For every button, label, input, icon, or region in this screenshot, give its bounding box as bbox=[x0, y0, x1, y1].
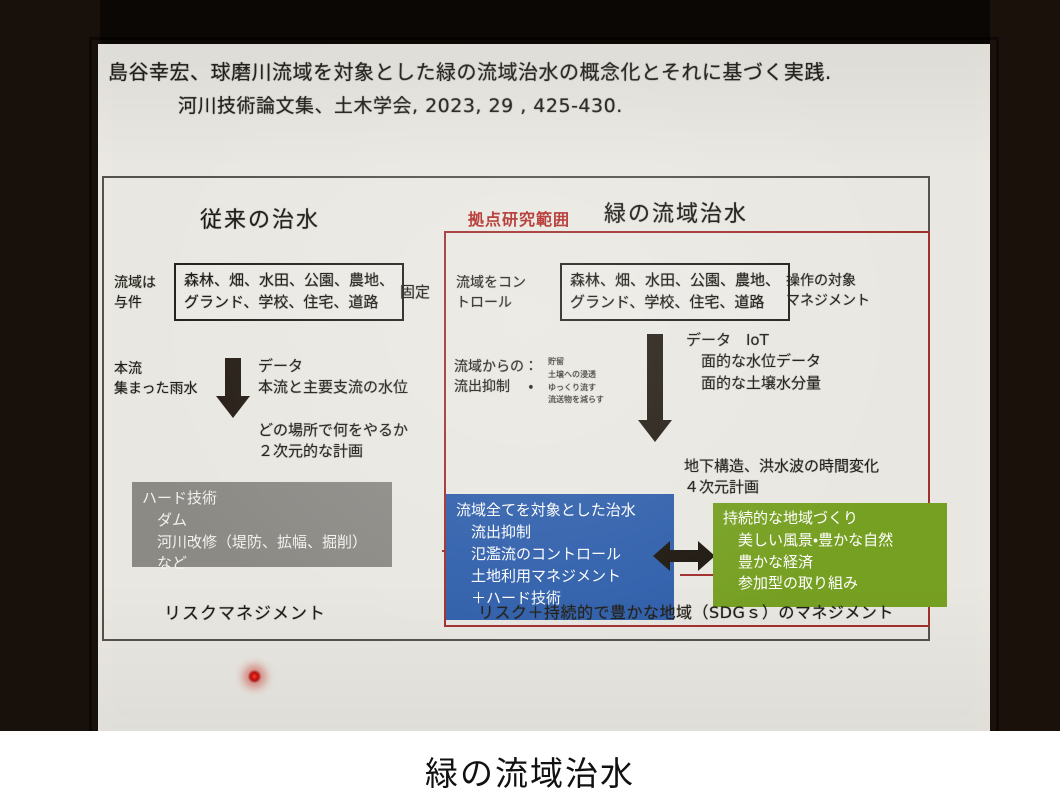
citation-line-1: 島谷幸宏、球磨川流域を対象とした緑の流域治水の概念化とそれに基づく実践. bbox=[108, 56, 832, 85]
hard-measures-box: ハード技術 ダム 河川改修（堤防、拡幅、掘削） など bbox=[132, 482, 392, 567]
diagram-frame: 従来の治水 流域は 与件 森林、畑、水田、公園、農地、 グランド、学校、住宅、道… bbox=[102, 176, 930, 641]
slide-surface: 島谷幸宏、球磨川流域を対象とした緑の流域治水の概念化とそれに基づく実践. 河川技… bbox=[98, 44, 990, 731]
room-wall-top bbox=[0, 0, 1060, 46]
bidirectional-arrow bbox=[653, 541, 715, 571]
left-data-label: データ 本流と主要支流の水位 bbox=[258, 356, 408, 399]
right-column-heading: 緑の流域治水 bbox=[604, 196, 748, 228]
figure-caption: 緑の流域治水 bbox=[0, 747, 1060, 795]
room-wall-left bbox=[0, 0, 100, 731]
left-fixed-label: 固定 bbox=[400, 282, 430, 303]
left-footer-label: リスクマネジメント bbox=[164, 602, 326, 626]
left-landuse-box: 森林、畑、水田、公園、農地、 グランド、学校、住宅、道路 bbox=[174, 263, 404, 321]
caption-strip: 緑の流域治水 bbox=[0, 731, 1060, 811]
left-flow-label: 本流 集まった雨水 bbox=[114, 360, 197, 400]
right-runoff-label: 流域からの： 流出抑制 ・ bbox=[454, 358, 538, 398]
right-plan-label: 地下構造、洪水波の時間変化 ４次元計画 bbox=[684, 456, 879, 499]
left-plan-label: どの場所で何をやるか ２次元的な計画 bbox=[258, 420, 408, 463]
right-target-label: 操作の対象 マネジメント bbox=[786, 272, 870, 312]
room-wall-right bbox=[990, 0, 1060, 731]
citation-line-2: 河川技術論文集、土木学会, 2023, 29 , 425-430. bbox=[178, 91, 623, 118]
left-column-heading: 従来の治水 bbox=[200, 202, 320, 234]
sustainable-community-box: 持続的な地域づくり 美しい風景・豊かな自然 豊かな経済 参加型の取り組み bbox=[713, 503, 947, 607]
projected-slide-photo: 島谷幸宏、球磨川流域を対象とした緑の流域治水の概念化とそれに基づく実践. 河川技… bbox=[0, 0, 1060, 731]
right-landuse-box: 森林、畑、水田、公園、農地、 グランド、学校、住宅、道路 bbox=[560, 263, 790, 321]
right-footer-label: リスク＋持続的で豊かな地域（SDGｓ）のマネジメント bbox=[478, 602, 894, 625]
left-catchment-label: 流域は 与件 bbox=[114, 274, 156, 314]
laser-pointer-dot bbox=[248, 670, 261, 683]
hub-scope-label: 拠点研究範囲 bbox=[468, 206, 570, 230]
right-data-label: データ IoT 面的な水位データ 面的な土壌水分量 bbox=[686, 330, 821, 394]
right-runoff-bullets: 貯留 土壌への浸透 ゆっくり流す 流送物を減らす bbox=[548, 356, 604, 407]
right-control-label: 流域をコン トロール bbox=[456, 274, 526, 314]
